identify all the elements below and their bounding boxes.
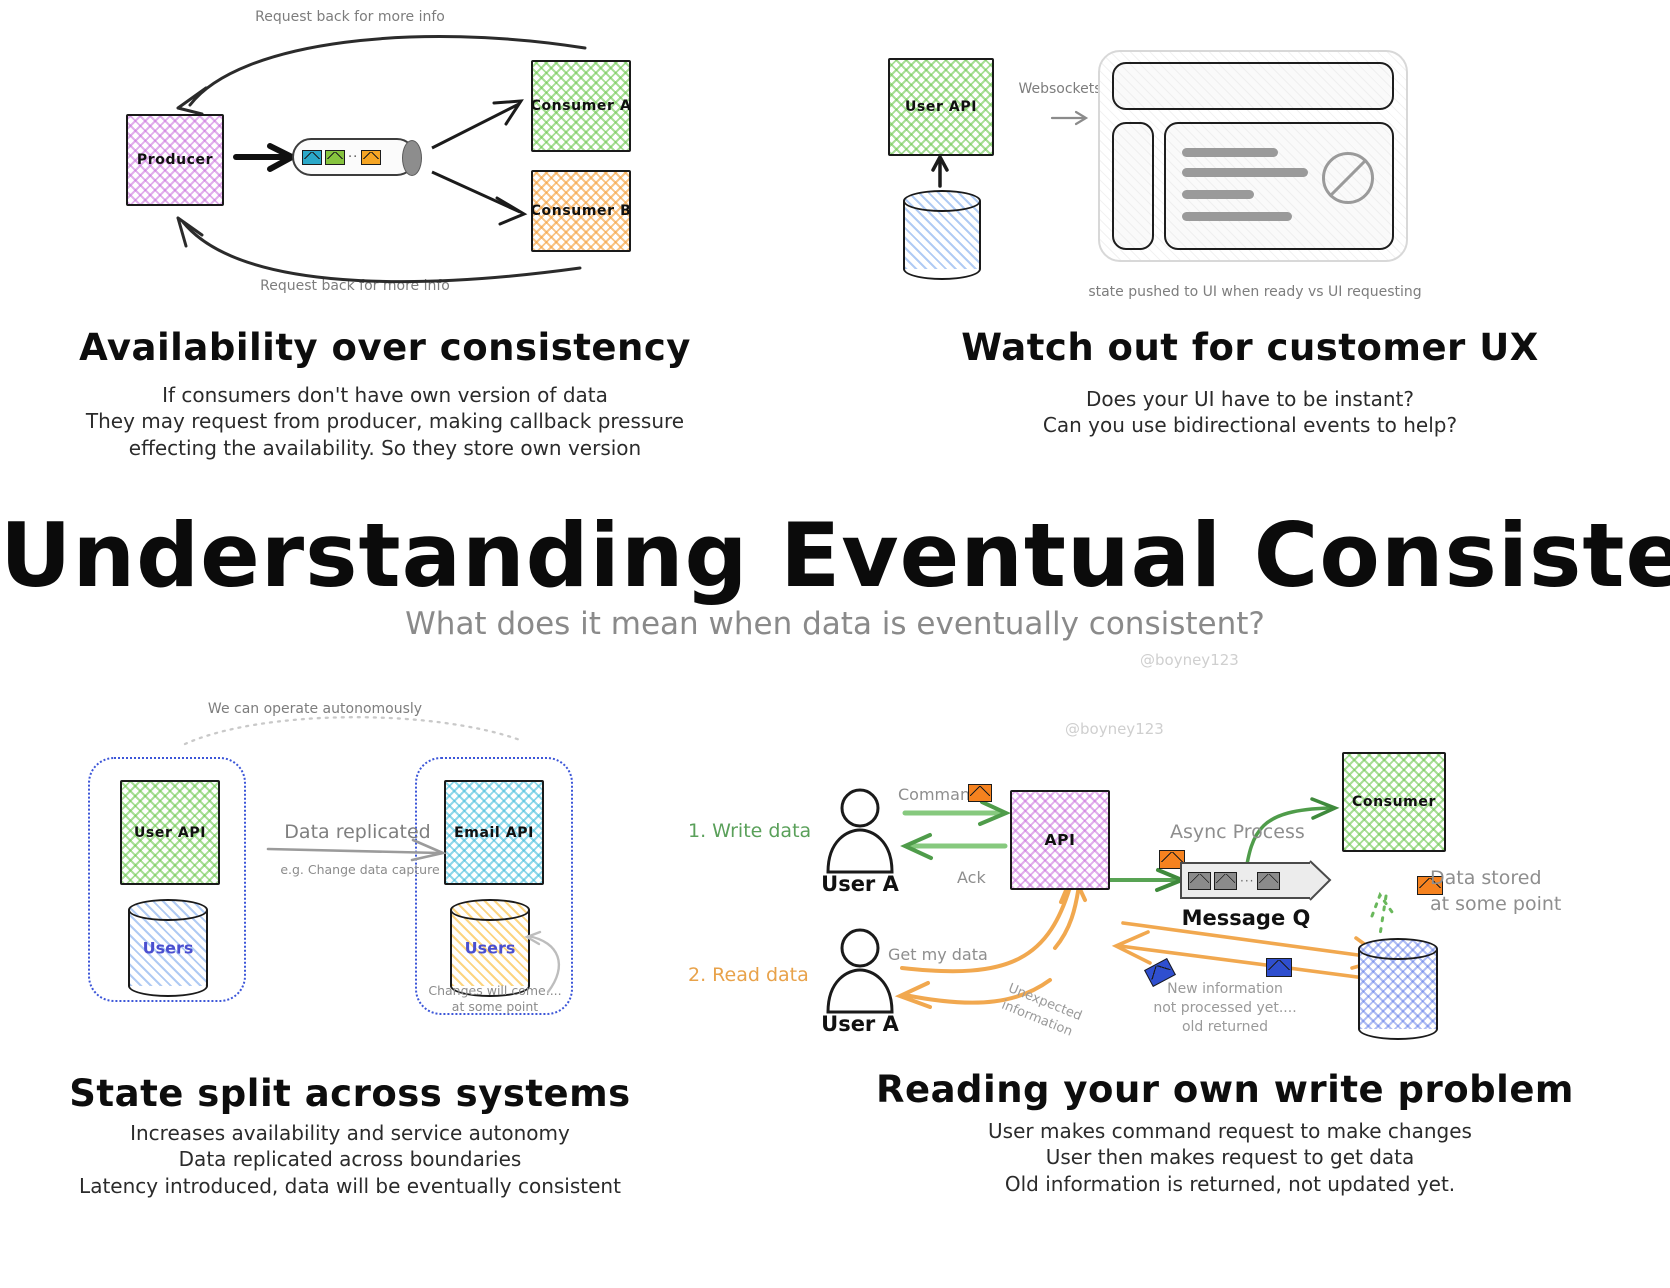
quadrant-subtitle: Does your UI have to be instant? Can you… [910,386,1590,439]
page-title: Understanding Eventual Consistency [0,504,1670,607]
data-stored-line: Data stored [1430,866,1620,892]
subtitle-line: User makes command request to make chang… [800,1118,1660,1144]
subtitle-line: Old information is returned, not updated… [800,1171,1660,1197]
envelope-icon [1214,872,1237,890]
consumer-box: Consumer [1342,752,1446,852]
no-entry-icon [1322,152,1374,204]
producer-label: Producer [137,152,213,168]
ack-label: Ack [957,868,986,889]
data-stored-line: at some point [1430,892,1620,918]
consumer-b-box: Consumer B [531,170,631,252]
queue-icon: ··· [1180,862,1312,899]
new-info-line: New information [1135,980,1315,999]
consumer-label: Consumer [1352,794,1436,810]
subtitle-line: If consumers don't have own version of d… [60,382,710,408]
page-subtitle: What does it mean when data is eventuall… [0,606,1670,642]
quadrant-subtitle: Increases availability and service auton… [30,1120,670,1199]
api-label: API [1045,831,1076,849]
async-process-label: Async Process [1170,820,1305,845]
subtitle-line: Data replicated across boundaries [30,1146,670,1172]
subtitle-line: Increases availability and service auton… [30,1120,670,1146]
replication-arrow [0,680,700,1030]
quadrant-state-split-across-systems: We can operate autonomously User API Ema… [0,680,700,1288]
queue-icon: ·· [292,138,416,176]
subtitle-line: They may request from producer, making c… [60,408,710,434]
queue-ellipsis: ··· [1240,874,1254,888]
consumer-b-label: Consumer B [531,203,632,219]
queue-arrow-cap [1310,860,1336,902]
quadrant-title: Reading your own write problem [780,1068,1670,1111]
quadrant-title: Watch out for customer UX [830,326,1670,369]
new-info-line: old returned [1135,1018,1315,1037]
changes-note: Changes will come.... at some point [410,983,580,1014]
ui-header-bar [1112,62,1394,110]
envelope-icon [968,784,992,802]
get-my-data-label: Get my data [888,945,988,966]
author-handle: @boyney123 [1140,651,1239,669]
subtitle-line: effecting the availability. So they stor… [60,435,710,461]
envelope-icon [325,150,345,165]
ui-text-line [1182,148,1278,157]
quadrant-availability-over-consistency: Request back for more info Request back … [0,0,770,470]
consumer-a-label: Consumer A [531,98,632,114]
queue-end-cap [402,140,422,176]
message-q-label: Message Q [1180,906,1312,930]
envelope-icon [361,150,381,165]
envelope-icon [302,150,322,165]
ui-text-line [1182,190,1254,199]
subtitle-line: Does your UI have to be instant? [910,386,1590,412]
subtitle-line: Can you use bidirectional events to help… [910,412,1590,438]
data-stored-note: Data stored at some point [1430,866,1620,917]
envelope-icon [1257,872,1280,890]
queue-ellipsis: ·· [348,150,358,165]
quadrant-watch-out-for-customer-ux: User API Websockets state pushed to UI w… [830,0,1670,470]
producer-box: Producer [126,114,224,206]
replication-sub-label: e.g. Change data capture [265,862,455,878]
changes-note-line: at some point [410,999,580,1015]
envelope-icon [1188,872,1211,890]
api-box: API [1010,790,1110,890]
replication-label: Data replicated [270,820,445,845]
ux-caption: state pushed to UI when ready vs UI requ… [1030,283,1480,301]
consumer-a-box: Consumer A [531,60,631,152]
quadrant-title: State split across systems [0,1072,700,1115]
changes-note-line: Changes will come.... [410,983,580,999]
subtitle-line: User then makes request to get data [800,1144,1660,1170]
subtitle-line: Latency introduced, data will be eventua… [30,1173,670,1199]
quadrant-subtitle: User makes command request to make chang… [800,1118,1660,1197]
quadrant-title: Availability over consistency [0,326,770,369]
ui-sidebar [1112,122,1154,250]
quadrant-reading-your-own-write-problem: @boyney123 1. Write data 2. Read data Us… [680,680,1670,1288]
ui-text-line [1182,212,1292,221]
envelope-icon [1266,958,1292,977]
ui-text-line [1182,168,1308,177]
new-information-note: New information not processed yet.... ol… [1135,980,1315,1037]
database-icon [1358,938,1438,1040]
quadrant-subtitle: If consumers don't have own version of d… [60,382,710,461]
new-info-line: not processed yet.... [1135,999,1315,1018]
